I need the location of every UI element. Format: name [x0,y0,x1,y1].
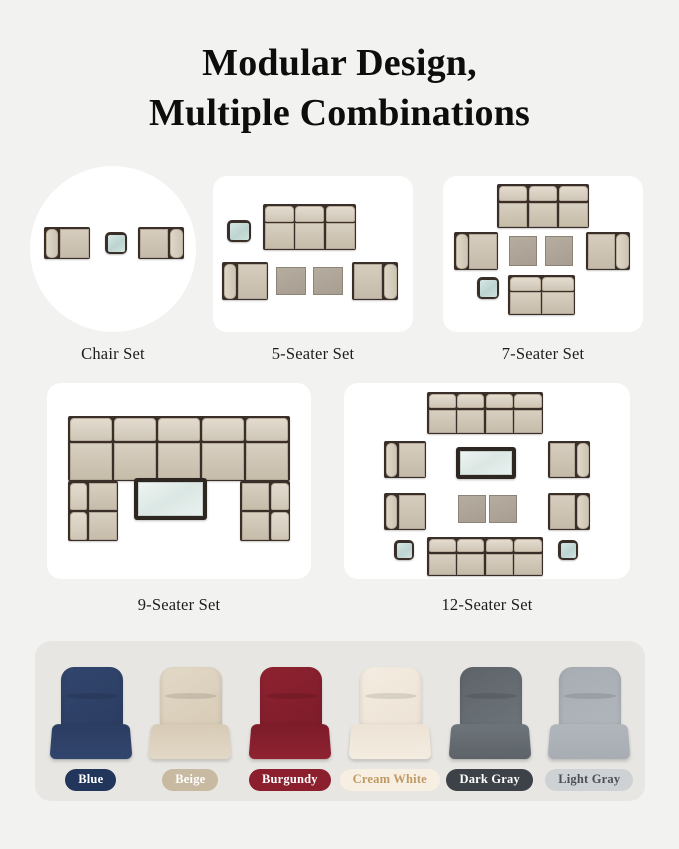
sofa-seat-cushion [246,443,289,480]
color-swatch-beige[interactable]: Beige [141,653,241,791]
sofa-back-cushion [271,483,289,511]
cushion-backrest [360,667,422,729]
cushion-backrest [559,667,621,729]
armchair-backrest [616,234,628,269]
color-label-pill: Cream White [340,769,440,791]
layout-caption-chair-set: Chair Set [30,344,196,364]
side-table [394,540,414,560]
armchair [384,493,426,530]
armchair-seat [550,443,576,477]
sofa-back-cushion [271,512,289,540]
cushion-preview [448,667,532,763]
sofa-back-cushion [499,186,528,202]
ottoman [276,267,306,295]
armchair [586,232,630,270]
sofa-back-cushion [70,418,113,442]
sofa-back-cushion [295,206,324,222]
layout-card-chair-set[interactable] [30,166,196,332]
sofa-back-cushion [529,186,558,202]
sofa-back-cushion [114,418,157,442]
sofa-seat-cushion [295,223,324,248]
sofa-seat-cushion [265,223,294,248]
armchair-seat [469,234,496,269]
layout-caption-9-seater-set: 9-Seater Set [47,595,311,615]
sofa-seat-cushion [457,554,484,575]
sofa-seat-cushion [429,554,456,575]
ottoman [313,267,343,295]
ottoman [458,495,486,523]
sofa-seat-cushion [510,292,541,313]
armchair [352,262,398,300]
sofa-back-cushion [246,418,289,442]
armchair-backrest [170,229,183,258]
layout-card-9-seater-set[interactable] [47,383,311,579]
side-table-glass-top [397,543,412,558]
sofa-seat-cushion [429,410,456,433]
layout-caption-12-seater-set: 12-Seater Set [344,595,630,615]
ottoman [489,495,517,523]
layout-card-12-seater-set[interactable] [344,383,630,579]
armchair [138,227,184,259]
ottoman [545,236,573,266]
cushion-backrest [460,667,522,729]
armchair-seat [140,229,169,258]
color-label-pill: Burgundy [249,769,331,791]
coffee-table [456,447,516,479]
sofa-4seat [427,392,543,434]
layout-caption-5-seater-set: 5-Seater Set [213,344,413,364]
title-line-2: Multiple Combinations [0,88,679,138]
armchair-seat [399,443,425,477]
armchair-seat [354,264,383,299]
sofa-seat-cushion [486,554,513,575]
side-table-glass-top [108,235,125,252]
armchair-seat [550,495,576,529]
sofa-seat-cushion [457,410,484,433]
color-swatch-row: BlueBeigeBurgundyCream WhiteDark GrayLig… [35,641,645,801]
sofa-back-cushion [514,394,541,409]
sofa-back-cushion [158,418,201,442]
sofa-seat-cushion [89,512,117,540]
sofa-seat-cushion [499,203,528,227]
armchair-backrest [224,264,237,299]
coffee-table-glass-top [138,482,203,516]
armchair-backrest [577,495,589,529]
sofa-3seat [497,184,589,228]
sofa-back-cushion [429,394,456,409]
cushion-preview [49,667,133,763]
sofa-seat-cushion [242,512,270,540]
sofa-seat-cushion [158,443,201,480]
cushion-preview [248,667,332,763]
armchair-backrest [386,495,398,529]
color-label-pill: Beige [162,769,218,791]
cushion-seat [348,724,431,759]
color-options-panel: BlueBeigeBurgundyCream WhiteDark GrayLig… [35,641,645,801]
sectional-top-run [68,416,290,481]
armchair-seat [399,495,425,529]
armchair [548,441,590,478]
sofa-back-cushion [510,277,541,291]
sofa-back-cushion [457,394,484,409]
sofa-4seat [427,537,543,576]
cushion-preview [148,667,232,763]
armchair-backrest [46,229,59,258]
armchair-backrest [577,443,589,477]
armchair [454,232,498,270]
sofa-seat-cushion [514,410,541,433]
cushion-seat [548,724,631,759]
sofa-back-cushion [457,539,484,553]
sofa-seat-cushion [89,483,117,511]
cushion-seat [448,724,531,759]
coffee-table-glass-top [460,451,512,475]
cushion-backrest [160,667,222,729]
armchair [384,441,426,478]
cushion-preview [547,667,631,763]
sofa-back-cushion [70,512,88,540]
cushion-seat [49,724,132,759]
layout-card-5-seater-set[interactable] [213,176,413,332]
armchair [548,493,590,530]
sofa-seat-cushion [486,410,513,433]
sectional-left-wing [68,481,118,541]
armchair [44,227,90,259]
sofa-back-cushion [429,539,456,553]
sofa-seat-cushion [202,443,245,480]
layout-card-7-seater-set[interactable] [443,176,643,332]
color-swatch-light-gray[interactable]: Light Gray [539,653,639,791]
armchair [222,262,268,300]
side-table [477,277,499,299]
sofa-back-cushion [265,206,294,222]
sofa-back-cushion [542,277,573,291]
color-swatch-burgundy[interactable]: Burgundy [240,653,340,791]
sofa-seat-cushion [514,554,541,575]
side-table [105,232,127,254]
side-table [227,220,251,242]
sofa-back-cushion [202,418,245,442]
sofa-2seat [508,275,575,315]
color-swatch-blue[interactable]: Blue [41,653,141,791]
sofa-seat-cushion [559,203,588,227]
page-title: Modular Design, Multiple Combinations [0,0,679,138]
side-table [558,540,578,560]
sofa-back-cushion [486,394,513,409]
sofa-seat-cushion [70,443,113,480]
sofa-back-cushion [514,539,541,553]
sofa-back-cushion [559,186,588,202]
sofa-back-cushion [70,483,88,511]
sofa-seat-cushion [326,223,355,248]
armchair-backrest [384,264,397,299]
color-label-pill: Dark Gray [446,769,532,791]
cushion-backrest [260,667,322,729]
title-line-1: Modular Design, [0,38,679,88]
sofa-seat-cushion [542,292,573,313]
layout-caption-7-seater-set: 7-Seater Set [443,344,643,364]
armchair-seat [588,234,615,269]
sofa-seat-cushion [529,203,558,227]
color-swatch-dark-gray[interactable]: Dark Gray [440,653,540,791]
cushion-seat [248,724,331,759]
sofa-back-cushion [326,206,355,222]
ottoman [509,236,537,266]
sofa-seat-cushion [114,443,157,480]
side-table-glass-top [480,280,497,297]
sectional-right-wing [240,481,290,541]
side-table-glass-top [230,223,249,240]
color-swatch-cream-white[interactable]: Cream White [340,653,440,791]
armchair-seat [238,264,267,299]
cushion-seat [149,724,232,759]
color-label-pill: Light Gray [545,769,633,791]
color-label-pill: Blue [65,769,116,791]
armchair-backrest [456,234,468,269]
side-table-glass-top [561,543,576,558]
cushion-backrest [61,667,123,729]
armchair-backrest [386,443,398,477]
coffee-table [134,478,207,520]
sofa-back-cushion [486,539,513,553]
armchair-seat [60,229,89,258]
cushion-preview [348,667,432,763]
sofa-seat-cushion [242,483,270,511]
sofa-3seat [263,204,356,250]
